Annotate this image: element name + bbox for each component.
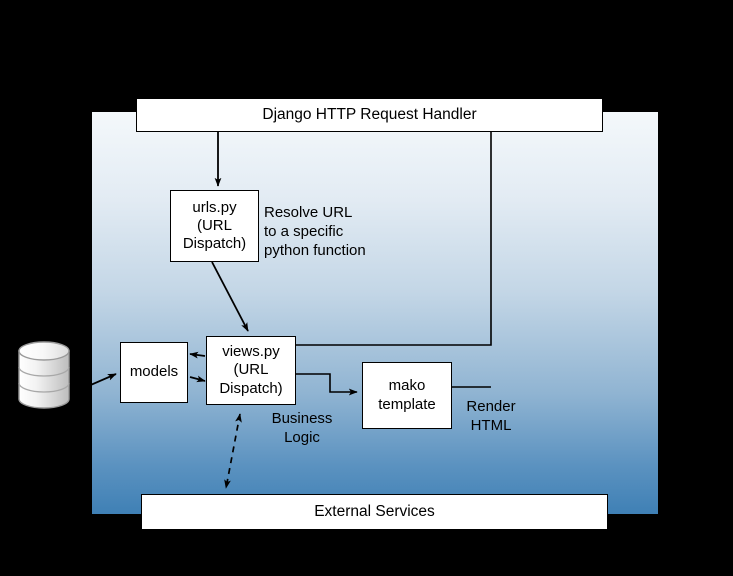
- annotation-resolve-url: Resolve URL to a specific python functio…: [264, 204, 384, 260]
- database-cylinder-icon: [16, 340, 72, 410]
- annotation-business-logic: Business Logic: [265, 410, 339, 448]
- node-urls-py[interactable]: urls.py (URL Dispatch): [170, 190, 259, 262]
- node-models[interactable]: models: [120, 342, 188, 403]
- node-django-http-request-handler[interactable]: Django HTTP Request Handler: [136, 98, 603, 132]
- node-external-services[interactable]: External Services: [141, 494, 608, 530]
- annotation-render-html: Render HTML: [458, 398, 524, 436]
- diagram-canvas: Django HTTP Request Handler urls.py (URL…: [0, 0, 733, 576]
- node-views-py[interactable]: views.py (URL Dispatch): [206, 336, 296, 405]
- gradient-backdrop-panel: [92, 112, 658, 514]
- node-mako-template[interactable]: mako template: [362, 362, 452, 429]
